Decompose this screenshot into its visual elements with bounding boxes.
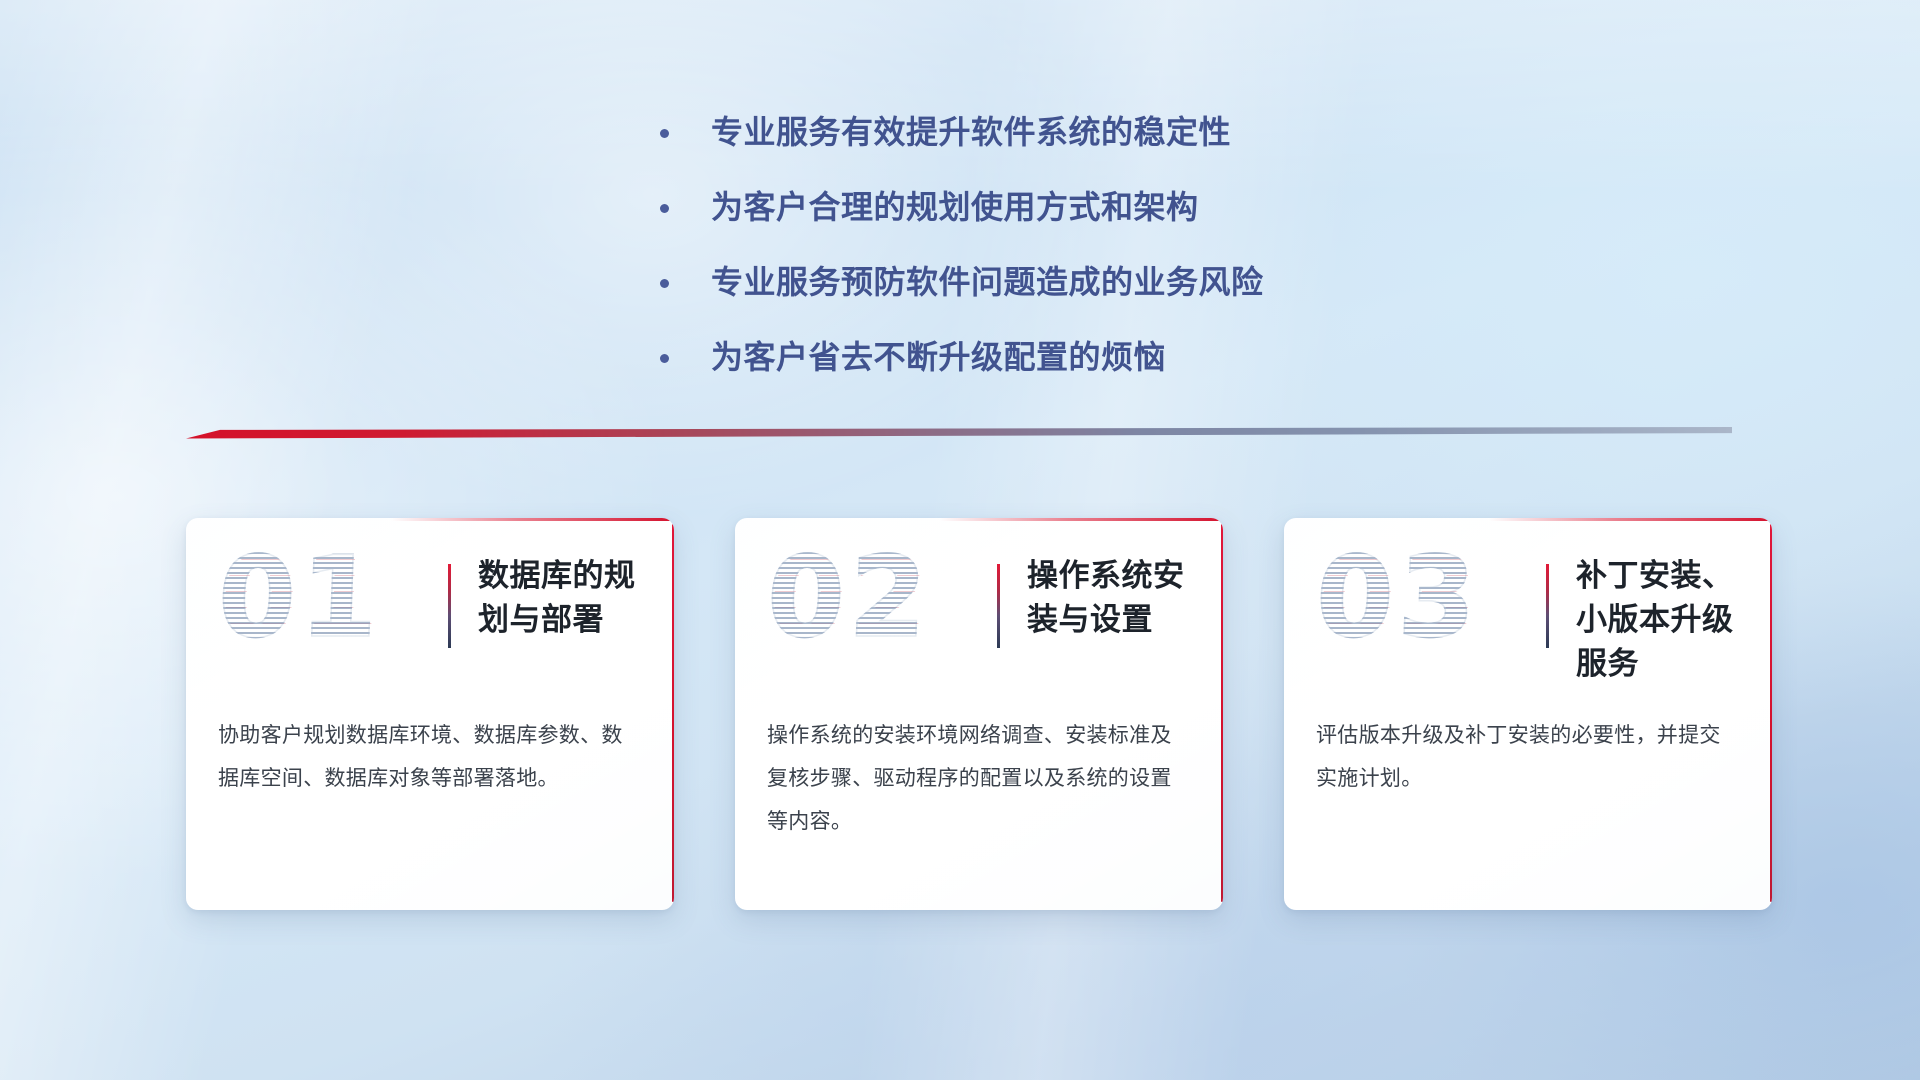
card-body-text: 评估版本升级及补丁安装的必要性，并提交实施计划。 [1316, 714, 1740, 800]
service-card-group: 01 01 数据库的规划与部署 协助客户规划数据库环境、数据库参数、数据库空间、… [186, 518, 1732, 918]
card-title-divider-bar [448, 564, 451, 648]
bullet-dot-icon [660, 354, 669, 363]
card-title: 数据库的规划与部署 [478, 554, 656, 642]
bullet-dot-icon [660, 204, 669, 213]
list-item: 为客户合理的规划使用方式和架构 [660, 185, 1480, 229]
card-body-text: 协助客户规划数据库环境、数据库参数、数据库空间、数据库对象等部署落地。 [218, 714, 642, 800]
card-header: 01 01 数据库的规划与部署 [186, 518, 674, 694]
bullet-text: 为客户合理的规划使用方式和架构 [711, 185, 1199, 229]
bullet-dot-icon [660, 279, 669, 288]
bullet-text: 专业服务预防软件问题造成的业务风险 [711, 260, 1264, 304]
divider-bar [186, 427, 1732, 443]
list-item: 专业服务有效提升软件系统的稳定性 [660, 110, 1480, 154]
card-header: 02 02 操作系统安装与设置 [735, 518, 1223, 694]
card-title-divider-bar [997, 564, 1000, 648]
card-number-watermark: 02 [765, 542, 933, 654]
service-card[interactable]: 02 02 操作系统安装与设置 操作系统的安装环境网络调查、安装标准及复核步骤、… [735, 518, 1223, 910]
list-item: 专业服务预防软件问题造成的业务风险 [660, 260, 1480, 304]
section-divider [186, 427, 1732, 443]
card-title: 补丁安装、小版本升级服务 [1576, 554, 1754, 686]
bullet-text: 为客户省去不断升级配置的烦恼 [711, 335, 1166, 379]
card-number-watermark: 01 [216, 542, 384, 654]
list-item: 为客户省去不断升级配置的烦恼 [660, 335, 1480, 379]
service-card[interactable]: 03 03 补丁安装、小版本升级服务 评估版本升级及补丁安装的必要性，并提交实施… [1284, 518, 1772, 910]
bullet-text: 专业服务有效提升软件系统的稳定性 [711, 110, 1231, 154]
card-body-text: 操作系统的安装环境网络调查、安装标准及复核步骤、驱动程序的配置以及系统的设置等内… [767, 714, 1191, 843]
card-title: 操作系统安装与设置 [1027, 554, 1205, 642]
benefits-bullet-list: 专业服务有效提升软件系统的稳定性 为客户合理的规划使用方式和架构 专业服务预防软… [660, 110, 1480, 411]
card-title-divider-bar [1546, 564, 1549, 648]
card-number-watermark: 03 [1314, 542, 1482, 654]
slide-canvas: 专业服务有效提升软件系统的稳定性 为客户合理的规划使用方式和架构 专业服务预防软… [0, 0, 1920, 1080]
bullet-dot-icon [660, 129, 669, 138]
card-header: 03 03 补丁安装、小版本升级服务 [1284, 518, 1772, 694]
service-card[interactable]: 01 01 数据库的规划与部署 协助客户规划数据库环境、数据库参数、数据库空间、… [186, 518, 674, 910]
